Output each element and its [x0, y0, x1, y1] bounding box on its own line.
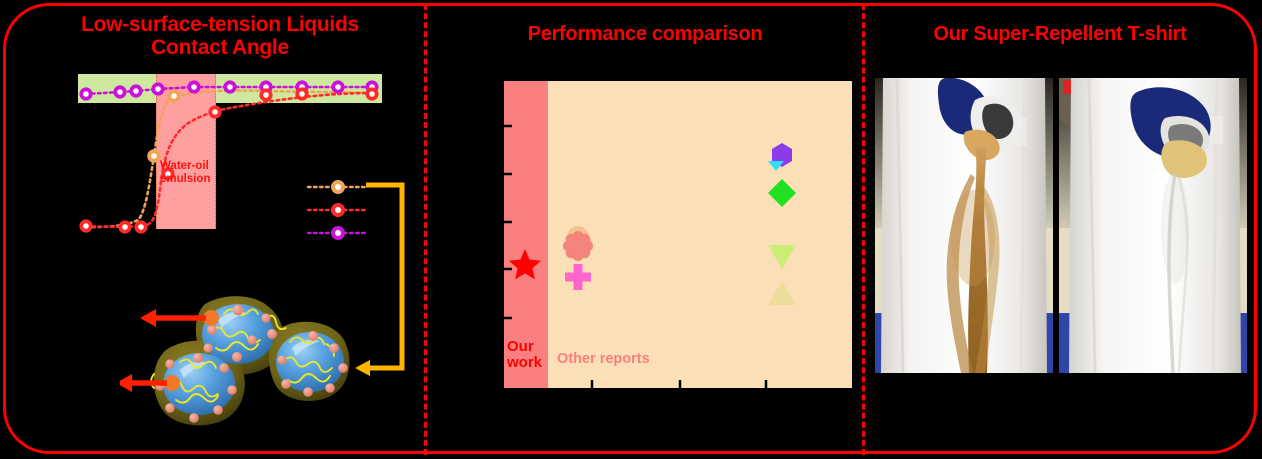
panel-title-middle: Performance comparison	[455, 24, 835, 46]
series-magenta-markers	[79, 80, 378, 100]
y-axis-ticks	[504, 126, 512, 318]
photo-coffee-pour-image	[875, 78, 1053, 373]
contact-angle-chart: Water-oil emulsion	[78, 70, 384, 240]
photo-coffee-pour	[875, 78, 1053, 373]
marker-salmon-asterisk	[563, 231, 593, 261]
panel-title-right: Our Super-Repellent T-shirt	[880, 24, 1240, 46]
x-axis-ticks	[592, 380, 766, 388]
performance-markers-svg	[504, 81, 852, 388]
our-work-label: Our work	[507, 339, 551, 371]
performance-comparison-chart: Our work Other reports	[504, 81, 852, 388]
marker-yellowgreen-triangle-down	[768, 245, 796, 269]
water-oil-emulsion-label: Water-oil emulsion	[160, 160, 222, 186]
photo-oil-pour-image	[1059, 78, 1247, 373]
marker-green-diamond	[768, 179, 796, 207]
photo-oil-pour	[1059, 78, 1247, 373]
panel-divider-left	[424, 4, 427, 455]
marker-khaki-triangle-up	[768, 281, 796, 305]
tshirt-photos	[875, 78, 1247, 373]
figure-root: Low-surface-tension Liquids Contact Angl…	[0, 0, 1262, 459]
panel-divider-right	[862, 4, 865, 455]
marker-our-work-star	[509, 249, 541, 279]
panel-title-left: Low-surface-tension Liquids Contact Angl…	[40, 14, 400, 59]
other-reports-label: Other reports	[557, 351, 650, 367]
micelle-illustration-icon	[120, 288, 355, 433]
micelle-diagram	[120, 288, 355, 433]
marker-pink-plus	[565, 264, 591, 290]
